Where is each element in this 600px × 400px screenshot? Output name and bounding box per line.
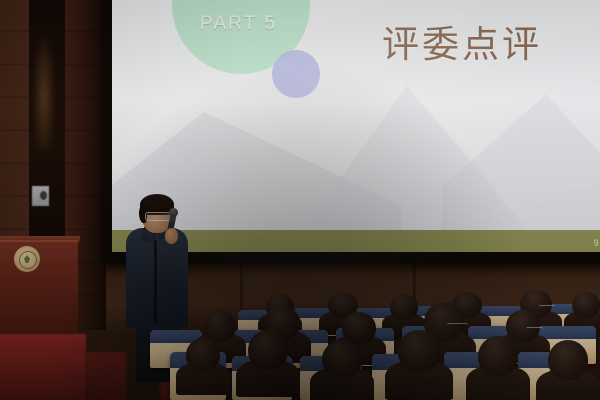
audience-member-head (322, 340, 362, 378)
doorway-sign-mark (40, 191, 47, 200)
auditorium-photo: PART 5 评委点评 9 (0, 0, 600, 400)
audience-member-head (478, 336, 518, 376)
audience-member-head (548, 340, 588, 380)
audience-member-glasses-icon (526, 327, 544, 332)
audience-member-head (248, 330, 288, 370)
audience-member-head (204, 310, 236, 342)
slide-title: 评委点评 (382, 14, 542, 68)
audience-member-head (186, 338, 220, 372)
audience-member-glasses-icon (539, 305, 556, 310)
speaker-hand (165, 228, 178, 244)
audience-member-head (342, 312, 376, 344)
projection-screen: PART 5 评委点评 9 (112, 0, 600, 252)
slide-page-number: 9 (593, 238, 599, 248)
draped-table-secondary (86, 352, 126, 400)
slide-mountain-shape-right (442, 94, 600, 249)
audience-member-glasses-icon (447, 323, 468, 328)
slide-purple-circle (272, 50, 320, 98)
speaker-shirt-placket (154, 240, 157, 324)
audience-member-head (390, 294, 418, 320)
draped-table (0, 334, 86, 400)
audience-member-head (572, 292, 600, 318)
slide-part-label: PART 5 (200, 13, 277, 35)
audience-member-head (398, 330, 440, 372)
doorway-glow (33, 30, 55, 150)
